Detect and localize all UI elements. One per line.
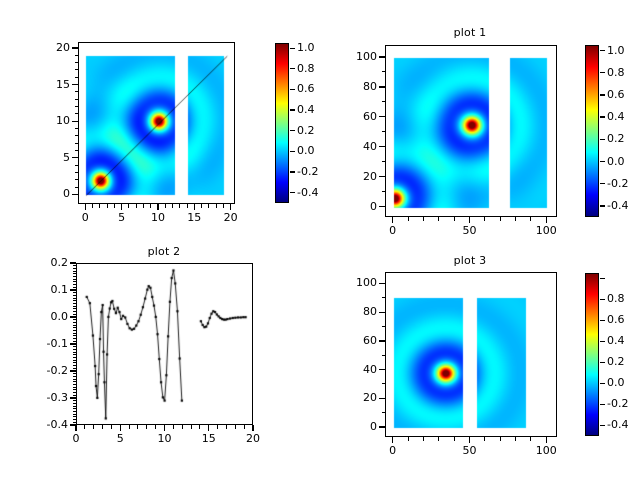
plot2-ytick-minor xyxy=(73,322,77,323)
plot0-yticklabel: 5 xyxy=(22,151,70,164)
plot2-xtick-minor xyxy=(182,425,183,429)
plot3-yticklabel: 40 xyxy=(329,363,377,376)
plot2-ytick-minor xyxy=(73,352,77,353)
plot1-xticklabel: 0 xyxy=(373,224,413,237)
plot0-colorbar-label: -0.2 xyxy=(297,165,318,178)
plot2-ytick-minor xyxy=(73,276,77,277)
plot0-yticklabel: 10 xyxy=(22,114,70,127)
plot3-xtick-minor xyxy=(408,437,409,441)
plot2-ytick-minor xyxy=(73,263,77,264)
plot3-ytick-minor xyxy=(382,355,386,356)
plot0-xtick-minor xyxy=(99,204,100,208)
plot3-xtick-minor xyxy=(423,437,424,441)
plot0-xtick-minor xyxy=(223,204,224,208)
plot0-colorbar-label: 1.0 xyxy=(297,41,315,54)
plot1-yticklabel: 40 xyxy=(329,140,377,153)
plot1-ytick-minor xyxy=(382,206,386,207)
plot2-ytick-minor xyxy=(73,354,77,355)
plot2-ytick-minor xyxy=(73,287,77,288)
plot0-colorbar-tick xyxy=(290,192,295,193)
plot2-ytick-minor xyxy=(73,416,77,417)
plot2-ytick-minor xyxy=(73,425,77,426)
plot0-xtick-minor xyxy=(187,204,188,208)
plot3-colorbar-label: 0.2 xyxy=(607,355,625,368)
plot2-yticklabel: -0.1 xyxy=(20,337,68,350)
plot2-yticklabel: 0.2 xyxy=(20,256,68,269)
plot1-colorbar-tick xyxy=(600,50,605,51)
plot2-xtick-minor xyxy=(164,425,165,429)
plot2-xticklabel: 20 xyxy=(233,432,273,445)
plot3-xtick-minor xyxy=(392,437,393,441)
plot0-ytick-minor xyxy=(75,187,79,188)
heatmap-canvas-plot0 xyxy=(79,43,236,205)
plot2-xtick-minor xyxy=(111,425,112,429)
plot0-xtick-minor xyxy=(216,204,217,208)
plot3-colorbar-label: -0.4 xyxy=(607,418,628,431)
figure-canvas: plot 1 plot 2 plot 3 0510152005101520-0.… xyxy=(0,0,640,480)
plot2-ytick-minor xyxy=(73,281,77,282)
plot0-xticklabel: 20 xyxy=(211,211,251,224)
plot0-colorbar-tick xyxy=(290,151,295,152)
plot2-xtick-minor xyxy=(208,425,209,429)
plot1-xtick-minor xyxy=(530,217,531,221)
plot2-xtick-minor xyxy=(93,425,94,429)
plot2-ytick-minor xyxy=(73,300,77,301)
plot2-ytick-minor xyxy=(73,308,77,309)
plot2-yticklabel: -0.4 xyxy=(20,418,68,431)
plot2-ytick-minor xyxy=(73,317,77,318)
plot1-colorbar-tick xyxy=(600,183,605,184)
plot2-ytick-minor xyxy=(73,290,77,291)
plot2-ytick-minor xyxy=(73,408,77,409)
plot3-xtick-minor xyxy=(469,437,470,441)
plot3-colorbar-tick xyxy=(600,362,605,363)
plot2-ytick-minor xyxy=(73,325,77,326)
plot0-ytick-minor xyxy=(75,128,79,129)
heatmap-canvas-plot1 xyxy=(386,46,558,218)
plot2-ytick-minor xyxy=(73,268,77,269)
plot0-xtick-minor xyxy=(165,204,166,208)
plot1-colorbar-label: 0.2 xyxy=(607,132,625,145)
plot2-ytick-minor xyxy=(73,298,77,299)
plot0-ytick-minor xyxy=(75,91,79,92)
plot2-ytick-minor xyxy=(73,371,77,372)
plot0-xtick-minor xyxy=(107,204,108,208)
plot2-ytick-minor xyxy=(73,327,77,328)
plot3-colorbar-tick-unlabeled xyxy=(600,278,605,279)
plot0-xtick-minor xyxy=(143,204,144,208)
plot0-xtick-minor xyxy=(179,204,180,208)
plot3-xtick-minor xyxy=(500,437,501,441)
plot2-ytick-minor xyxy=(73,360,77,361)
plot2-xtick-minor xyxy=(191,425,192,429)
plot2-xtick-minor xyxy=(235,425,236,429)
plot3-colorbar-label: 0.8 xyxy=(607,292,625,305)
plot2-ytick-minor xyxy=(73,319,77,320)
plot2-ytick-minor xyxy=(73,368,77,369)
plot0-xtick-minor xyxy=(157,204,158,208)
plot0-ytick-minor xyxy=(75,106,79,107)
plot1-colorbar-tick xyxy=(600,205,605,206)
plot3-ytick-minor xyxy=(382,283,386,284)
plot1-xtick-minor xyxy=(469,217,470,221)
plot3-ytick-minor xyxy=(382,426,386,427)
plot2-xtick-minor xyxy=(155,425,156,429)
plot1-xtick-minor xyxy=(546,217,547,221)
plot2-yticklabel: -0.3 xyxy=(20,391,68,404)
plot3-xtick-minor xyxy=(438,437,439,441)
plot2-ytick-minor xyxy=(73,295,77,296)
plot2-xtick-minor xyxy=(199,425,200,429)
plot1-ytick-minor xyxy=(382,161,386,162)
plot1-ytick-minor xyxy=(382,56,386,57)
plot2-xticklabel: 10 xyxy=(145,432,185,445)
plot3-yticklabel: 0 xyxy=(329,420,377,433)
plot2-ytick-minor xyxy=(73,330,77,331)
plot2-xtick-minor xyxy=(217,425,218,429)
plot0-colorbar-label: -0.4 xyxy=(297,186,318,199)
plot0-xtick-minor xyxy=(121,204,122,208)
plot1-colorbar-label: 0.6 xyxy=(607,88,625,101)
plot2-xtick-minor xyxy=(102,425,103,429)
plot3-ytick-minor xyxy=(382,369,386,370)
plot1-colorbar-label: 0.0 xyxy=(607,155,625,168)
plot0-yticklabel: 20 xyxy=(22,41,70,54)
plot3-colorbar-label: 0.0 xyxy=(607,376,625,389)
plot1-colorbar-label: -0.4 xyxy=(607,199,628,212)
plot3-colorbar-label: -0.2 xyxy=(607,397,628,410)
plot3-yticklabel: 20 xyxy=(329,391,377,404)
plot1-colorbar-tick xyxy=(600,116,605,117)
axes-frame-plot0 xyxy=(78,42,235,204)
plot0-ytick-minor xyxy=(75,194,79,195)
plot1-ytick-minor xyxy=(382,116,386,117)
plot3-yticklabel: 60 xyxy=(329,334,377,347)
plot2-yticklabel: 0.0 xyxy=(20,310,68,323)
plot0-colorbar-tick xyxy=(290,109,295,110)
plot2-ytick-minor xyxy=(73,273,77,274)
plot2-xtick-minor xyxy=(129,425,130,429)
plot1-xtick-minor xyxy=(484,217,485,221)
plot1-ytick-minor xyxy=(382,191,386,192)
plot0-yticklabel: 15 xyxy=(22,78,70,91)
plot0-ytick-minor xyxy=(75,121,79,122)
plot2-xtick-minor xyxy=(253,425,254,429)
plot2-xtick-minor xyxy=(226,425,227,429)
plot2-ytick-minor xyxy=(73,292,77,293)
plot1-xtick-minor xyxy=(454,217,455,221)
plot3-title: plot 3 xyxy=(380,254,560,267)
plot1-xtick-minor xyxy=(515,217,516,221)
plot0-ytick-minor xyxy=(75,84,79,85)
plot0-xtick-minor xyxy=(201,204,202,208)
plot3-colorbar-label: 0.6 xyxy=(607,313,625,326)
plot2-ytick-minor xyxy=(73,422,77,423)
plot1-ytick-minor xyxy=(382,86,386,87)
plot0-colorbar-tick xyxy=(290,130,295,131)
plot1-colorbar-label: 0.4 xyxy=(607,110,625,123)
plot2-ytick-minor xyxy=(73,398,77,399)
plot3-ytick-minor xyxy=(382,383,386,384)
plot1-colorbar-tick xyxy=(600,139,605,140)
plot1-title: plot 1 xyxy=(380,26,560,39)
plot0-ytick-minor xyxy=(75,157,79,158)
plot0-ytick-minor xyxy=(75,113,79,114)
plot1-xtick-minor xyxy=(438,217,439,221)
plot2-ytick-minor xyxy=(73,387,77,388)
plot2-ytick-minor xyxy=(73,349,77,350)
plot1-colorbar-label: -0.2 xyxy=(607,177,628,190)
plot3-ytick-minor xyxy=(382,398,386,399)
plot2-xtick-minor xyxy=(84,425,85,429)
plot2-xtick-minor xyxy=(244,425,245,429)
plot1-colorbar-tick xyxy=(600,161,605,162)
plot3-xticklabel: 50 xyxy=(449,444,489,457)
plot0-ytick-minor xyxy=(75,135,79,136)
plot1-yticklabel: 60 xyxy=(329,110,377,123)
plot0-ytick-minor xyxy=(75,179,79,180)
plot3-ytick-minor xyxy=(382,340,386,341)
plot3-ytick-minor xyxy=(382,412,386,413)
plot2-ytick-minor xyxy=(73,419,77,420)
plot2-xticklabel: 0 xyxy=(56,432,96,445)
plot2-ytick-minor xyxy=(73,279,77,280)
plot2-yticklabel: 0.1 xyxy=(20,283,68,296)
colorbar-plot0 xyxy=(275,43,289,203)
plot0-ytick-minor xyxy=(75,172,79,173)
plot3-colorbar-tick xyxy=(600,299,605,300)
plot0-xticklabel: 0 xyxy=(65,211,105,224)
plot1-colorbar-label: 0.8 xyxy=(607,66,625,79)
plot3-yticklabel: 100 xyxy=(329,276,377,289)
plot2-xticklabel: 15 xyxy=(189,432,229,445)
axes-frame-plot3 xyxy=(385,272,557,437)
plot2-ytick-minor xyxy=(73,392,77,393)
plot0-xticklabel: 15 xyxy=(174,211,214,224)
plot3-xticklabel: 100 xyxy=(526,444,566,457)
plot1-yticklabel: 0 xyxy=(329,200,377,213)
plot0-xtick-minor xyxy=(194,204,195,208)
plot2-ytick-minor xyxy=(73,303,77,304)
plot0-colorbar-tick xyxy=(290,48,295,49)
plot2-ytick-minor xyxy=(73,333,77,334)
plot2-yticklabel: -0.2 xyxy=(20,364,68,377)
line-canvas-plot2 xyxy=(77,264,254,426)
plot3-xtick-minor xyxy=(454,437,455,441)
plot0-ytick-minor xyxy=(75,143,79,144)
plot0-ytick-minor xyxy=(75,77,79,78)
plot3-xtick-minor xyxy=(515,437,516,441)
plot2-ytick-minor xyxy=(73,414,77,415)
plot2-ytick-minor xyxy=(73,344,77,345)
plot3-xtick-minor xyxy=(530,437,531,441)
plot1-colorbar-tick xyxy=(600,72,605,73)
plot2-ytick-minor xyxy=(73,381,77,382)
plot2-ytick-minor xyxy=(73,284,77,285)
plot0-xtick-minor xyxy=(230,204,231,208)
plot2-ytick-minor xyxy=(73,395,77,396)
plot3-ytick-minor xyxy=(382,326,386,327)
plot2-title: plot 2 xyxy=(74,245,254,258)
plot1-xtick-minor xyxy=(500,217,501,221)
plot0-colorbar-tick xyxy=(290,171,295,172)
plot1-xtick-minor xyxy=(392,217,393,221)
plot1-yticklabel: 20 xyxy=(329,170,377,183)
plot2-ytick-minor xyxy=(73,376,77,377)
plot0-ytick-minor xyxy=(75,55,79,56)
plot3-xticklabel: 0 xyxy=(373,444,413,457)
axes-frame-plot2 xyxy=(76,263,253,425)
plot0-ytick-minor xyxy=(75,150,79,151)
plot0-ytick-minor xyxy=(75,69,79,70)
plot2-xtick-minor xyxy=(137,425,138,429)
plot2-ytick-minor xyxy=(73,306,77,307)
plot0-colorbar-tick xyxy=(290,89,295,90)
plot0-xtick-minor xyxy=(172,204,173,208)
axes-frame-plot1 xyxy=(385,45,557,217)
plot0-xticklabel: 10 xyxy=(138,211,178,224)
plot0-xtick-minor xyxy=(150,204,151,208)
plot2-xtick-minor xyxy=(120,425,121,429)
plot2-ytick-minor xyxy=(73,338,77,339)
plot2-ytick-minor xyxy=(73,335,77,336)
plot0-colorbar-tick xyxy=(290,68,295,69)
heatmap-canvas-plot3 xyxy=(386,273,558,438)
plot3-yticklabel: 80 xyxy=(329,305,377,318)
plot0-ytick-minor xyxy=(75,62,79,63)
plot0-colorbar-label: 0.0 xyxy=(297,144,315,157)
plot1-colorbar-label: 1.0 xyxy=(607,44,625,57)
plot2-ytick-minor xyxy=(73,406,77,407)
plot0-yticklabel: 0 xyxy=(22,187,70,200)
plot1-xticklabel: 100 xyxy=(526,224,566,237)
plot0-xtick-minor xyxy=(136,204,137,208)
plot0-ytick-minor xyxy=(75,165,79,166)
plot2-ytick-minor xyxy=(73,373,77,374)
plot2-ytick-minor xyxy=(73,379,77,380)
plot2-ytick-minor xyxy=(73,403,77,404)
plot2-ytick-minor xyxy=(73,362,77,363)
colorbar-plot1 xyxy=(585,45,599,217)
plot0-xticklabel: 5 xyxy=(102,211,142,224)
plot0-colorbar-label: 0.8 xyxy=(297,62,315,75)
plot1-ytick-minor xyxy=(382,146,386,147)
plot2-ytick-minor xyxy=(73,314,77,315)
plot2-ytick-minor xyxy=(73,341,77,342)
plot1-yticklabel: 100 xyxy=(329,50,377,63)
plot1-ytick-minor xyxy=(382,71,386,72)
plot2-ytick-minor xyxy=(73,311,77,312)
plot0-colorbar-label: 0.6 xyxy=(297,82,315,95)
plot3-xtick-minor xyxy=(484,437,485,441)
plot3-colorbar-label: 0.4 xyxy=(607,334,625,347)
plot0-xtick-minor xyxy=(208,204,209,208)
plot0-ytick-minor xyxy=(75,47,79,48)
plot1-xtick-minor xyxy=(408,217,409,221)
plot3-colorbar-tick xyxy=(600,425,605,426)
plot2-ytick-minor xyxy=(73,411,77,412)
plot0-colorbar-label: 0.4 xyxy=(297,103,315,116)
plot2-ytick-minor xyxy=(73,271,77,272)
plot1-ytick-minor xyxy=(382,101,386,102)
plot3-xtick-minor xyxy=(546,437,547,441)
plot3-colorbar-tick xyxy=(600,383,605,384)
plot2-ytick-minor xyxy=(73,346,77,347)
plot3-colorbar-tick xyxy=(600,404,605,405)
plot2-ytick-minor xyxy=(73,400,77,401)
plot1-xticklabel: 50 xyxy=(449,224,489,237)
plot1-ytick-minor xyxy=(382,131,386,132)
colorbar-plot3 xyxy=(585,273,599,436)
plot0-ytick-minor xyxy=(75,99,79,100)
plot2-xtick-minor xyxy=(146,425,147,429)
plot0-colorbar-label: 0.2 xyxy=(297,124,315,137)
plot1-xtick-minor xyxy=(423,217,424,221)
plot0-xtick-minor xyxy=(92,204,93,208)
plot2-ytick-minor xyxy=(73,265,77,266)
plot1-colorbar-tick xyxy=(600,94,605,95)
plot2-ytick-minor xyxy=(73,384,77,385)
plot0-xtick-minor xyxy=(114,204,115,208)
plot3-colorbar-tick xyxy=(600,320,605,321)
plot1-ytick-minor xyxy=(382,176,386,177)
plot2-ytick-minor xyxy=(73,389,77,390)
plot3-ytick-minor xyxy=(382,312,386,313)
plot3-colorbar-tick xyxy=(600,341,605,342)
plot2-ytick-minor xyxy=(73,357,77,358)
plot2-xtick-minor xyxy=(173,425,174,429)
plot0-xtick-minor xyxy=(128,204,129,208)
plot2-ytick-minor xyxy=(73,365,77,366)
plot2-xticklabel: 5 xyxy=(100,432,140,445)
plot0-xtick-minor xyxy=(85,204,86,208)
plot1-yticklabel: 80 xyxy=(329,80,377,93)
plot3-ytick-minor xyxy=(382,297,386,298)
